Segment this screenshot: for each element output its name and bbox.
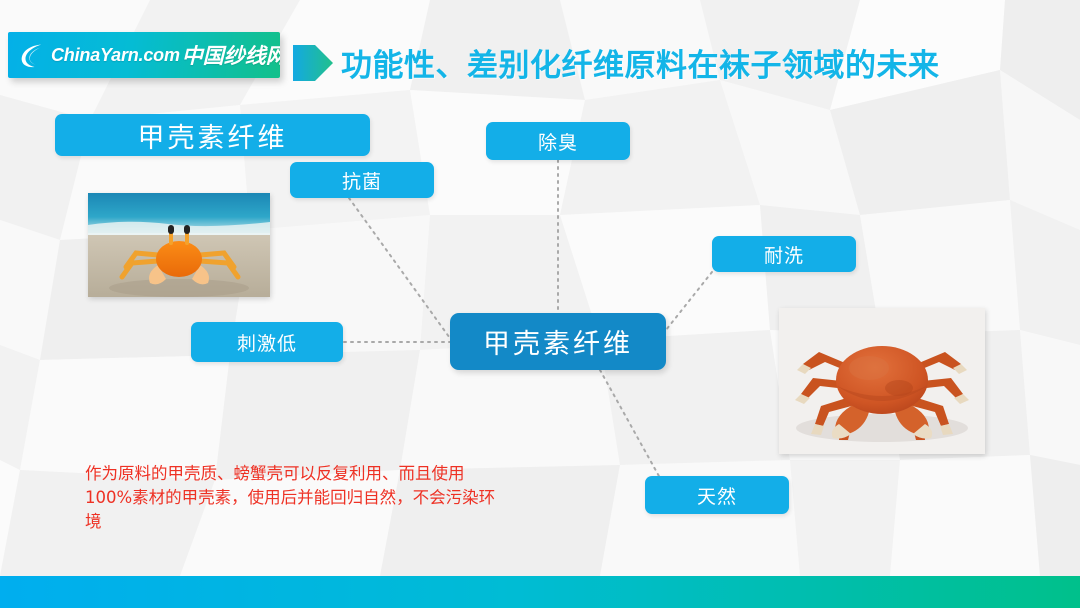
logo-text-en: ChinaYarn.com — [51, 45, 180, 66]
node-wash-resistant[interactable]: 耐洗 — [712, 236, 856, 272]
chinayarn-logo[interactable]: ChinaYarn.com 中国纱线网 TM — [8, 32, 280, 78]
node-antibacterial[interactable]: 抗菌 — [290, 162, 434, 198]
node-deodorize-label: 除臭 — [538, 128, 578, 155]
connector-wash-resistant — [666, 272, 712, 330]
footer-bar — [0, 576, 1080, 608]
node-natural-label: 天然 — [697, 482, 737, 509]
node-center-chitin-fiber[interactable]: 甲壳素纤维 — [450, 313, 666, 370]
node-heading-chitin-fiber[interactable]: 甲壳素纤维 — [55, 114, 370, 156]
beach-crab-photo — [88, 193, 270, 297]
node-low-irritation[interactable]: 刺激低 — [191, 322, 343, 362]
arrow-right-icon — [291, 41, 335, 85]
node-center-label: 甲壳素纤维 — [483, 322, 633, 361]
node-low-irritation-label: 刺激低 — [237, 329, 297, 356]
slide-canvas: ChinaYarn.com 中国纱线网 TM 功能性、差别化纤维原料在袜子领域的… — [0, 0, 1080, 608]
connector-antibacterial — [349, 198, 452, 341]
node-deodorize[interactable]: 除臭 — [486, 122, 630, 160]
cooked-crab-photo — [779, 308, 985, 454]
node-natural[interactable]: 天然 — [645, 476, 789, 514]
logo-text-cn: 中国纱线网 — [182, 40, 280, 70]
note-text: 作为原料的甲壳质、螃蟹壳可以反复利用、而且使用 100%素材的甲壳素，使用后并能… — [85, 462, 615, 534]
swoosh-icon — [18, 40, 48, 70]
node-heading-label: 甲壳素纤维 — [138, 116, 288, 155]
node-wash-resistant-label: 耐洗 — [764, 241, 804, 268]
page-title: 功能性、差别化纤维原料在袜子领域的未来 — [341, 40, 940, 85]
node-antibacterial-label: 抗菌 — [342, 167, 382, 194]
